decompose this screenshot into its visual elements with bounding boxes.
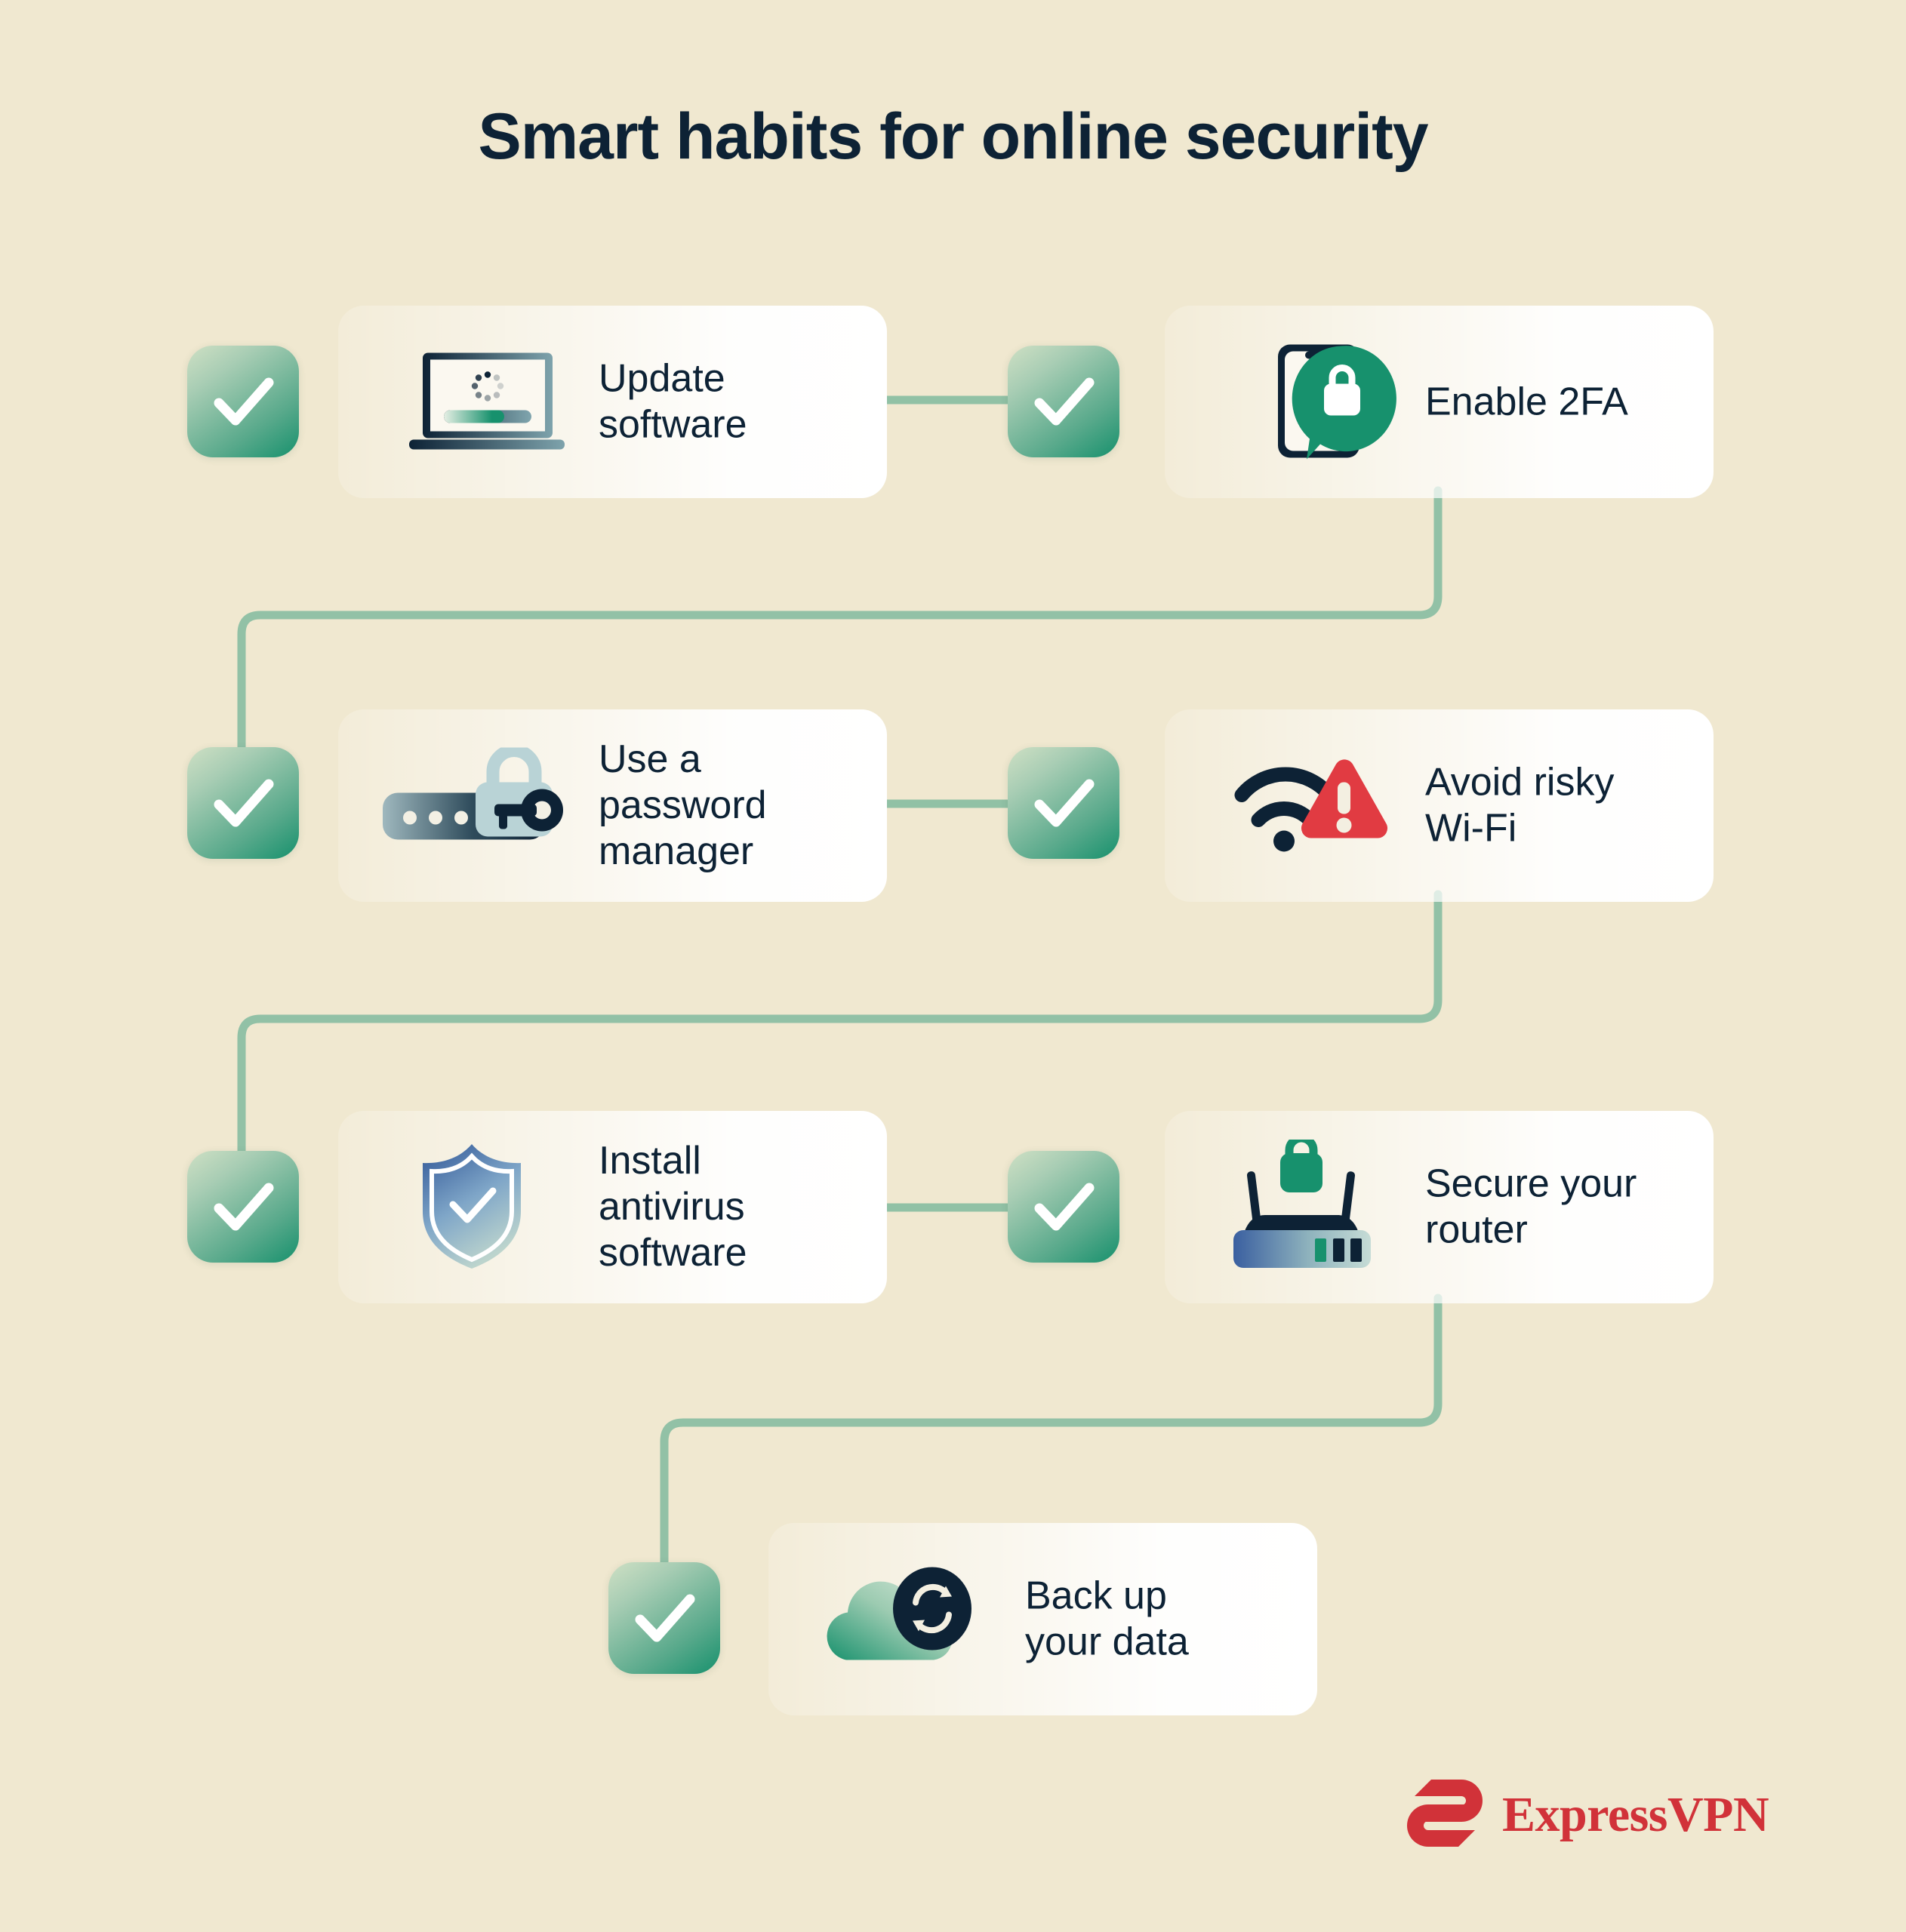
checkbox-install-antivirus-software[interactable] xyxy=(187,1151,299,1263)
expressvpn-e-mark-icon xyxy=(1404,1777,1486,1853)
card-secure-your-router[interactable]: Secure your router xyxy=(1165,1111,1714,1303)
checkbox-update-software[interactable] xyxy=(187,346,299,457)
phone-lock-2fa-icon xyxy=(1261,332,1420,472)
checkbox-use-password-manager[interactable] xyxy=(187,747,299,859)
card-update-software[interactable]: Update software xyxy=(338,306,887,498)
card-use-password-manager[interactable]: Use a password manager xyxy=(338,709,887,902)
checkbox-checked-icon xyxy=(1008,1151,1119,1263)
card-label-back-up-your-data: Back up your data xyxy=(1025,1573,1189,1666)
checkbox-checked-icon xyxy=(608,1562,720,1674)
checkbox-secure-your-router[interactable] xyxy=(1008,1151,1119,1263)
card-back-up-your-data[interactable]: Back up your data xyxy=(768,1523,1317,1715)
router-lock-icon xyxy=(1229,1140,1387,1275)
checkbox-checked-icon xyxy=(187,747,299,859)
checkbox-checked-icon xyxy=(187,346,299,457)
expressvpn-logo[interactable]: ExpressVPN xyxy=(1404,1777,1769,1853)
checkbox-enable-2fa[interactable] xyxy=(1008,346,1119,457)
card-label-install-antivirus-software: Install antivirus software xyxy=(599,1137,747,1276)
card-label-avoid-risky-wifi: Avoid risky Wi-Fi xyxy=(1425,759,1614,852)
checkbox-avoid-risky-wifi[interactable] xyxy=(1008,747,1119,859)
laptop-update-icon xyxy=(397,343,571,460)
infographic-canvas: Smart habits for online security xyxy=(0,0,1906,1932)
expressvpn-wordmark: ExpressVPN xyxy=(1502,1786,1769,1844)
cloud-sync-icon xyxy=(818,1564,991,1674)
card-enable-2fa[interactable]: Enable 2FA xyxy=(1165,306,1714,498)
checkbox-checked-icon xyxy=(187,1151,299,1263)
card-label-secure-your-router: Secure your router xyxy=(1425,1161,1637,1254)
card-avoid-risky-wifi[interactable]: Avoid risky Wi-Fi xyxy=(1165,709,1714,902)
checkbox-checked-icon xyxy=(1008,346,1119,457)
card-install-antivirus-software[interactable]: Install antivirus software xyxy=(338,1111,887,1303)
card-label-use-password-manager: Use a password manager xyxy=(599,736,767,875)
wifi-warning-icon xyxy=(1231,747,1390,864)
shield-check-icon xyxy=(417,1140,527,1275)
checkbox-checked-icon xyxy=(1008,747,1119,859)
checkbox-back-up-your-data[interactable] xyxy=(608,1562,720,1674)
password-field-lock-key-icon xyxy=(380,747,580,864)
card-label-enable-2fa: Enable 2FA xyxy=(1425,379,1628,425)
card-label-update-software: Update software xyxy=(599,355,747,448)
